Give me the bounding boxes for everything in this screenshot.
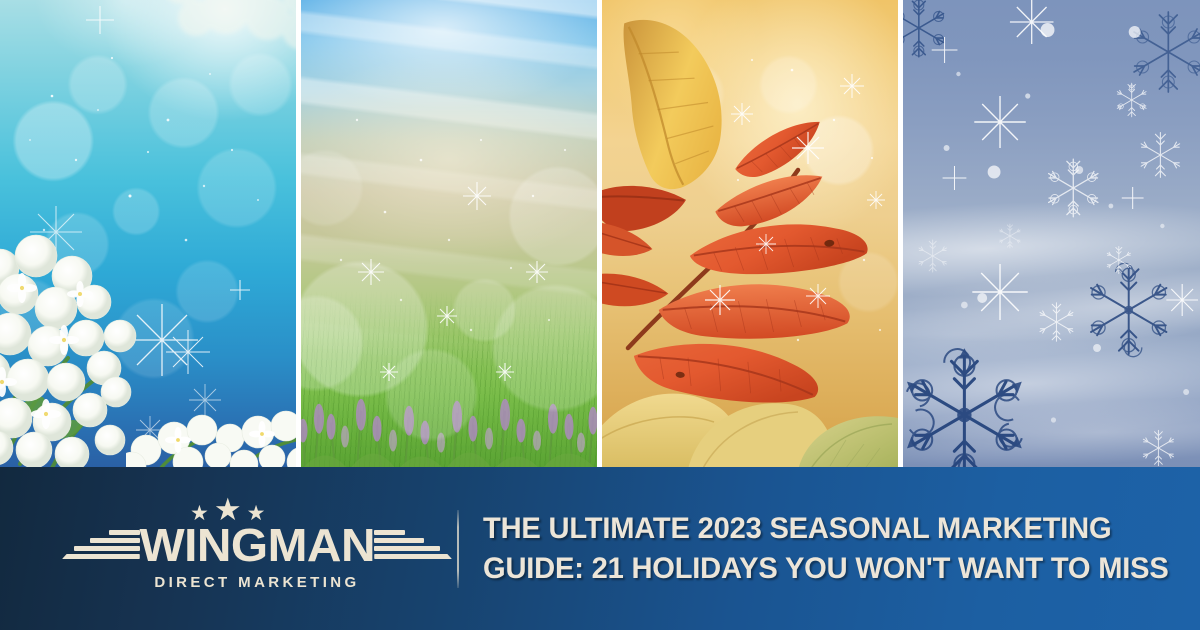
summer-bokeh-circles xyxy=(301,0,597,470)
ornate-snowflake-right xyxy=(1091,263,1166,356)
logo-wordmark-row: WINGMAN xyxy=(62,520,452,570)
seasonal-marketing-banner: ★ ★ ★ WINGMAN DIRECT MARKETING THE ULTIM… xyxy=(0,0,1200,630)
brand-band: ★ ★ ★ WINGMAN DIRECT MARKETING THE ULTIM… xyxy=(0,467,1200,630)
oak-leaf-top xyxy=(620,10,732,193)
season-panel-winter xyxy=(903,0,1200,470)
spring-lilac-blur-top-right xyxy=(152,0,296,82)
season-panel-summer xyxy=(301,0,597,470)
headline-line-1: THE ULTIMATE 2023 SEASONAL MARKETING xyxy=(483,509,1169,549)
season-panel-strip xyxy=(0,0,1200,470)
ornate-snowflake-top-right xyxy=(1134,12,1200,92)
ornate-snowflake-top-left xyxy=(903,0,944,57)
band-divider xyxy=(457,510,459,588)
spring-lilac-bottom-sprigs xyxy=(126,382,296,470)
wing-left-icon xyxy=(62,530,140,559)
headline: THE ULTIMATE 2023 SEASONAL MARKETING GUI… xyxy=(483,509,1186,588)
wing-right-icon xyxy=(374,530,452,559)
autumn-fallen-leaves xyxy=(602,394,898,470)
logo-tagline: DIRECT MARKETING xyxy=(62,574,452,591)
autumn-leaves xyxy=(602,0,898,470)
winter-snowflakes xyxy=(903,0,1200,470)
season-panel-autumn xyxy=(602,0,898,470)
season-panel-spring xyxy=(0,0,296,470)
ornate-snowflake-large xyxy=(907,348,1022,470)
wingman-logo[interactable]: ★ ★ ★ WINGMAN DIRECT MARKETING xyxy=(62,494,452,604)
headline-line-2: GUIDE: 21 HOLIDAYS YOU WON'T WANT TO MIS… xyxy=(483,549,1169,589)
logo-wordmark: WINGMAN xyxy=(135,522,379,568)
